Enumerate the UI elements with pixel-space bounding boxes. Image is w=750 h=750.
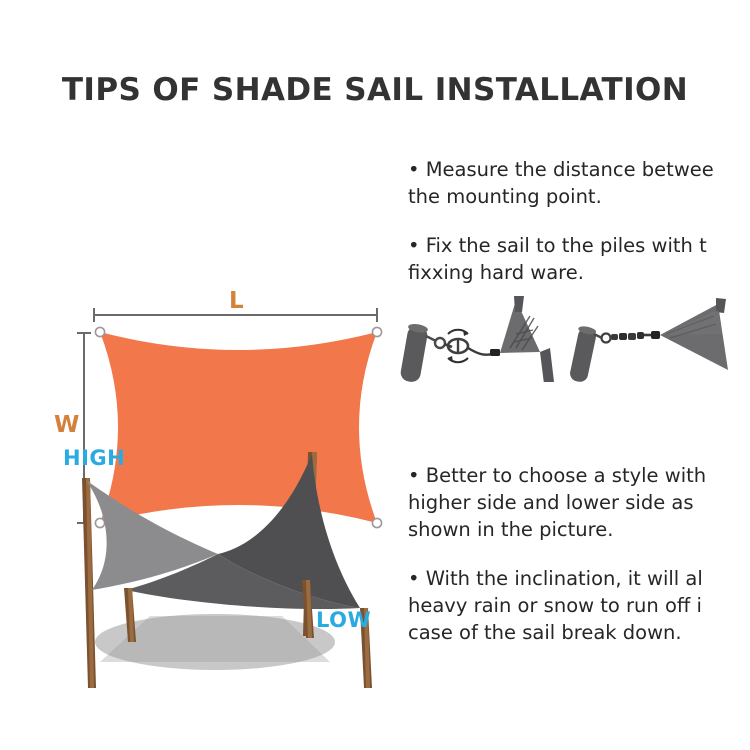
top-instructions-text: • Measure the distance betwee the mounti…	[408, 156, 750, 286]
paragraph-gap	[408, 210, 750, 232]
hardware-fitting-diagram-2	[566, 286, 750, 382]
bullet-line: • Measure the distance betwee	[408, 156, 750, 183]
pole-icon	[569, 325, 598, 382]
sail-corner-triangle	[500, 296, 554, 382]
low-label: LOW	[316, 608, 371, 632]
paragraph-gap	[408, 543, 750, 565]
bottom-instructions-text: • Better to choose a style with higher s…	[408, 462, 750, 646]
inclined-sail-illustration	[30, 430, 410, 700]
pole-icon	[399, 323, 428, 382]
shackle-icon	[426, 336, 445, 348]
bullet-line: • Fix the sail to the piles with t	[408, 232, 750, 259]
connector-rope	[468, 348, 500, 356]
inclined-sail-diagram: HIGH LOW	[30, 430, 410, 700]
turnbuckle-icon	[444, 330, 468, 362]
hardware-fitting-diagram-1	[396, 286, 576, 382]
bullet-line: case of the sail break down.	[408, 619, 750, 646]
bullet-line: fixxing hard ware.	[408, 259, 750, 286]
bullet-line: heavy rain or snow to run off i	[408, 592, 750, 619]
bullet-line: the mounting point.	[408, 183, 750, 210]
bullet-line: • With the inclination, it will al	[408, 565, 750, 592]
high-label: HIGH	[63, 446, 125, 470]
bullet-line: shown in the picture.	[408, 516, 750, 543]
bullet-line: • Better to choose a style with	[408, 462, 750, 489]
chain-icon	[594, 331, 660, 343]
rectangular-sail-diagram: L W	[60, 140, 400, 400]
sail-corner-wedge	[660, 298, 728, 370]
bullet-line: higher side and lower side as	[408, 489, 750, 516]
page-title: TIPS OF SHADE SAIL INSTALLATION	[0, 72, 750, 108]
infographic-page: TIPS OF SHADE SAIL INSTALLATION L W • Me…	[0, 0, 750, 750]
